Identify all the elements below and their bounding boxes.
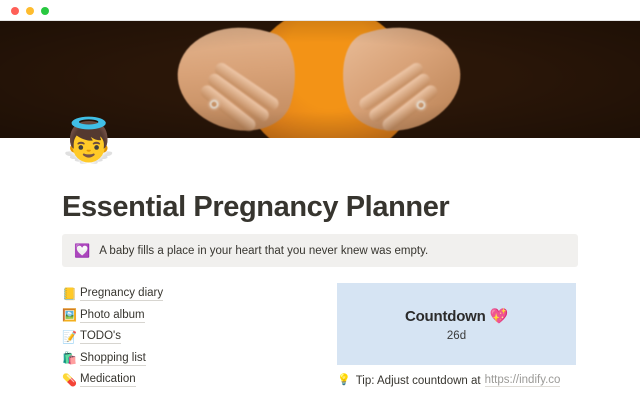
traffic-lights [11,7,49,15]
countdown-widget[interactable]: Countdown 💖 26d [337,283,576,365]
lightbulb-icon: 💡 [337,375,351,386]
callout-text: A baby fills a place in your heart that … [99,245,428,257]
notebook-icon: 📒 [62,288,80,300]
close-button[interactable] [11,7,19,15]
shopping-bags-icon: 🛍️ [62,352,80,364]
page-title: Essential Pregnancy Planner [62,191,449,224]
callout-block: 💟 A baby fills a place in your heart tha… [62,234,578,267]
list-item[interactable]: 📝 TODO's [62,326,312,348]
list-item[interactable]: 💊 Medication [62,369,312,391]
tip-text: Tip: Adjust countdown at [356,375,481,387]
minimize-button[interactable] [26,7,34,15]
countdown-value: 26d [447,330,466,342]
countdown-tip: 💡 Tip: Adjust countdown at https://indif… [337,374,560,387]
list-item[interactable]: 🛍️ Shopping list [62,348,312,370]
list-item[interactable]: 📒 Pregnancy diary [62,283,312,305]
link-medication[interactable]: Medication [80,372,136,387]
countdown-title: Countdown 💖 [405,307,508,325]
pill-icon: 💊 [62,374,80,386]
link-pregnancy-diary[interactable]: Pregnancy diary [80,286,163,301]
list-item[interactable]: 🖼️ Photo album [62,305,312,327]
app-window: 👼 Essential Pregnancy Planner 💟 A baby f… [0,0,640,400]
page-content: Essential Pregnancy Planner 💟 A baby fil… [0,138,640,400]
link-todos[interactable]: TODO's [80,329,121,344]
link-photo-album[interactable]: Photo album [80,308,145,323]
memo-icon: 📝 [62,331,80,343]
page-icon-emoji[interactable]: 👼 [62,120,116,163]
indify-link[interactable]: https://indify.co [485,374,561,387]
page-link-list: 📒 Pregnancy diary 🖼️ Photo album 📝 TODO'… [62,283,312,391]
maximize-button[interactable] [41,7,49,15]
window-titlebar [0,0,640,21]
picture-icon: 🖼️ [62,309,80,321]
heart-decoration-icon: 💟 [74,244,90,257]
link-shopping-list[interactable]: Shopping list [80,351,146,366]
